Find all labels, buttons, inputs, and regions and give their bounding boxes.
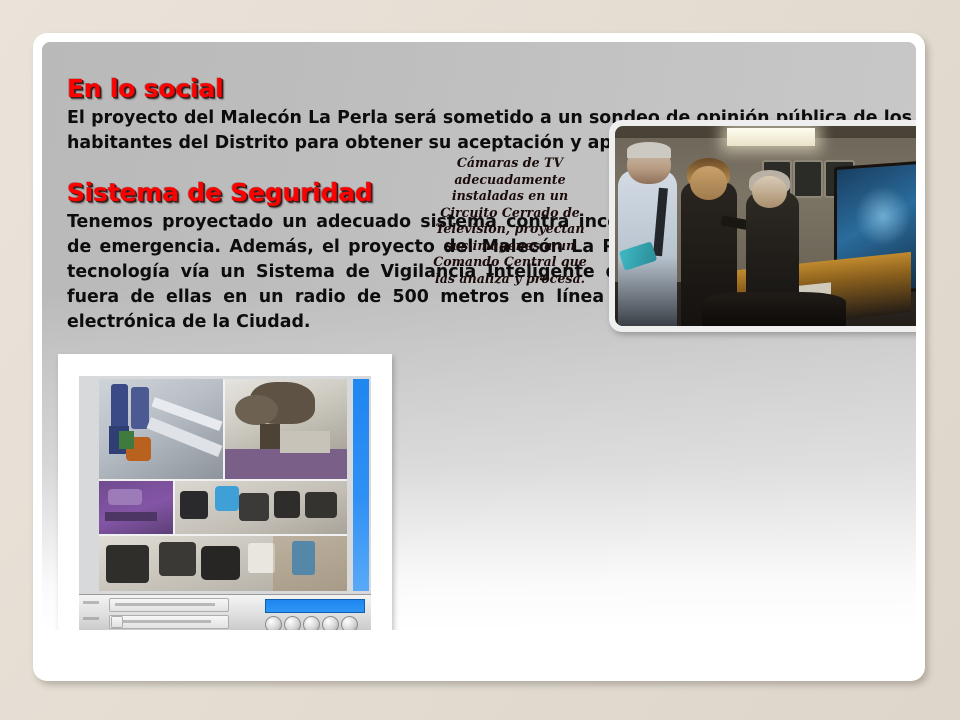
cctv-tile-2 xyxy=(223,379,347,479)
cctv-sidebar-panel[interactable] xyxy=(353,379,369,591)
cctv-grid-divider-vertical xyxy=(223,379,225,479)
photo-person-officer-hair xyxy=(627,142,671,158)
cctv-text-field-2-content xyxy=(115,620,211,623)
cctv-control-bar[interactable] xyxy=(79,594,371,630)
slide-root: En lo social El proyecto del Malecón La … xyxy=(0,0,960,720)
slide-card: En lo social El proyecto del Malecón La … xyxy=(33,33,925,681)
cctv-status-highlight[interactable] xyxy=(265,599,365,613)
cctv-dial-5[interactable] xyxy=(341,616,358,630)
heading-sistema-de-seguridad: Sistema de Seguridad xyxy=(67,178,373,207)
cctv-tile-3 xyxy=(99,479,173,534)
cctv-tile-4 xyxy=(173,479,347,534)
photo-ceiling-light xyxy=(727,128,814,146)
cctv-camera-grid xyxy=(99,379,347,591)
cctv-dial-3[interactable] xyxy=(303,616,320,630)
control-room-photo-inner xyxy=(615,126,916,326)
cctv-tile-5 xyxy=(99,534,347,591)
cctv-grid-divider-horizontal-1 xyxy=(99,479,347,481)
photo-person-woman-1-head xyxy=(690,166,727,200)
cctv-multiview-screenshot xyxy=(79,376,371,630)
cctv-label-line-2 xyxy=(83,617,99,620)
cctv-screenshot-frame xyxy=(58,354,392,630)
cctv-dial-2[interactable] xyxy=(284,616,301,630)
cctv-grid-divider-vertical-2 xyxy=(173,479,175,534)
photo-person-woman-2-head xyxy=(752,176,786,208)
cctv-grid-divider-horizontal-2 xyxy=(99,534,347,536)
photo-foreground-shadow xyxy=(702,292,846,326)
cctv-dial-1[interactable] xyxy=(265,616,282,630)
cctv-dial-4[interactable] xyxy=(322,616,339,630)
slide-content-area: En lo social El proyecto del Malecón La … xyxy=(42,42,916,630)
cctv-tile-1 xyxy=(99,379,223,479)
cctv-label-line-1 xyxy=(83,601,99,604)
photo-wall-monitor xyxy=(793,160,824,198)
heading-en-lo-social: En lo social xyxy=(67,74,224,103)
control-room-photo xyxy=(609,120,916,332)
cctv-caption-text: Cámaras de TV adecuadamente instaladas e… xyxy=(427,155,593,287)
photo-display-glow xyxy=(855,186,911,246)
cctv-checkbox[interactable] xyxy=(111,616,123,628)
cctv-text-field-1-content xyxy=(115,603,215,606)
